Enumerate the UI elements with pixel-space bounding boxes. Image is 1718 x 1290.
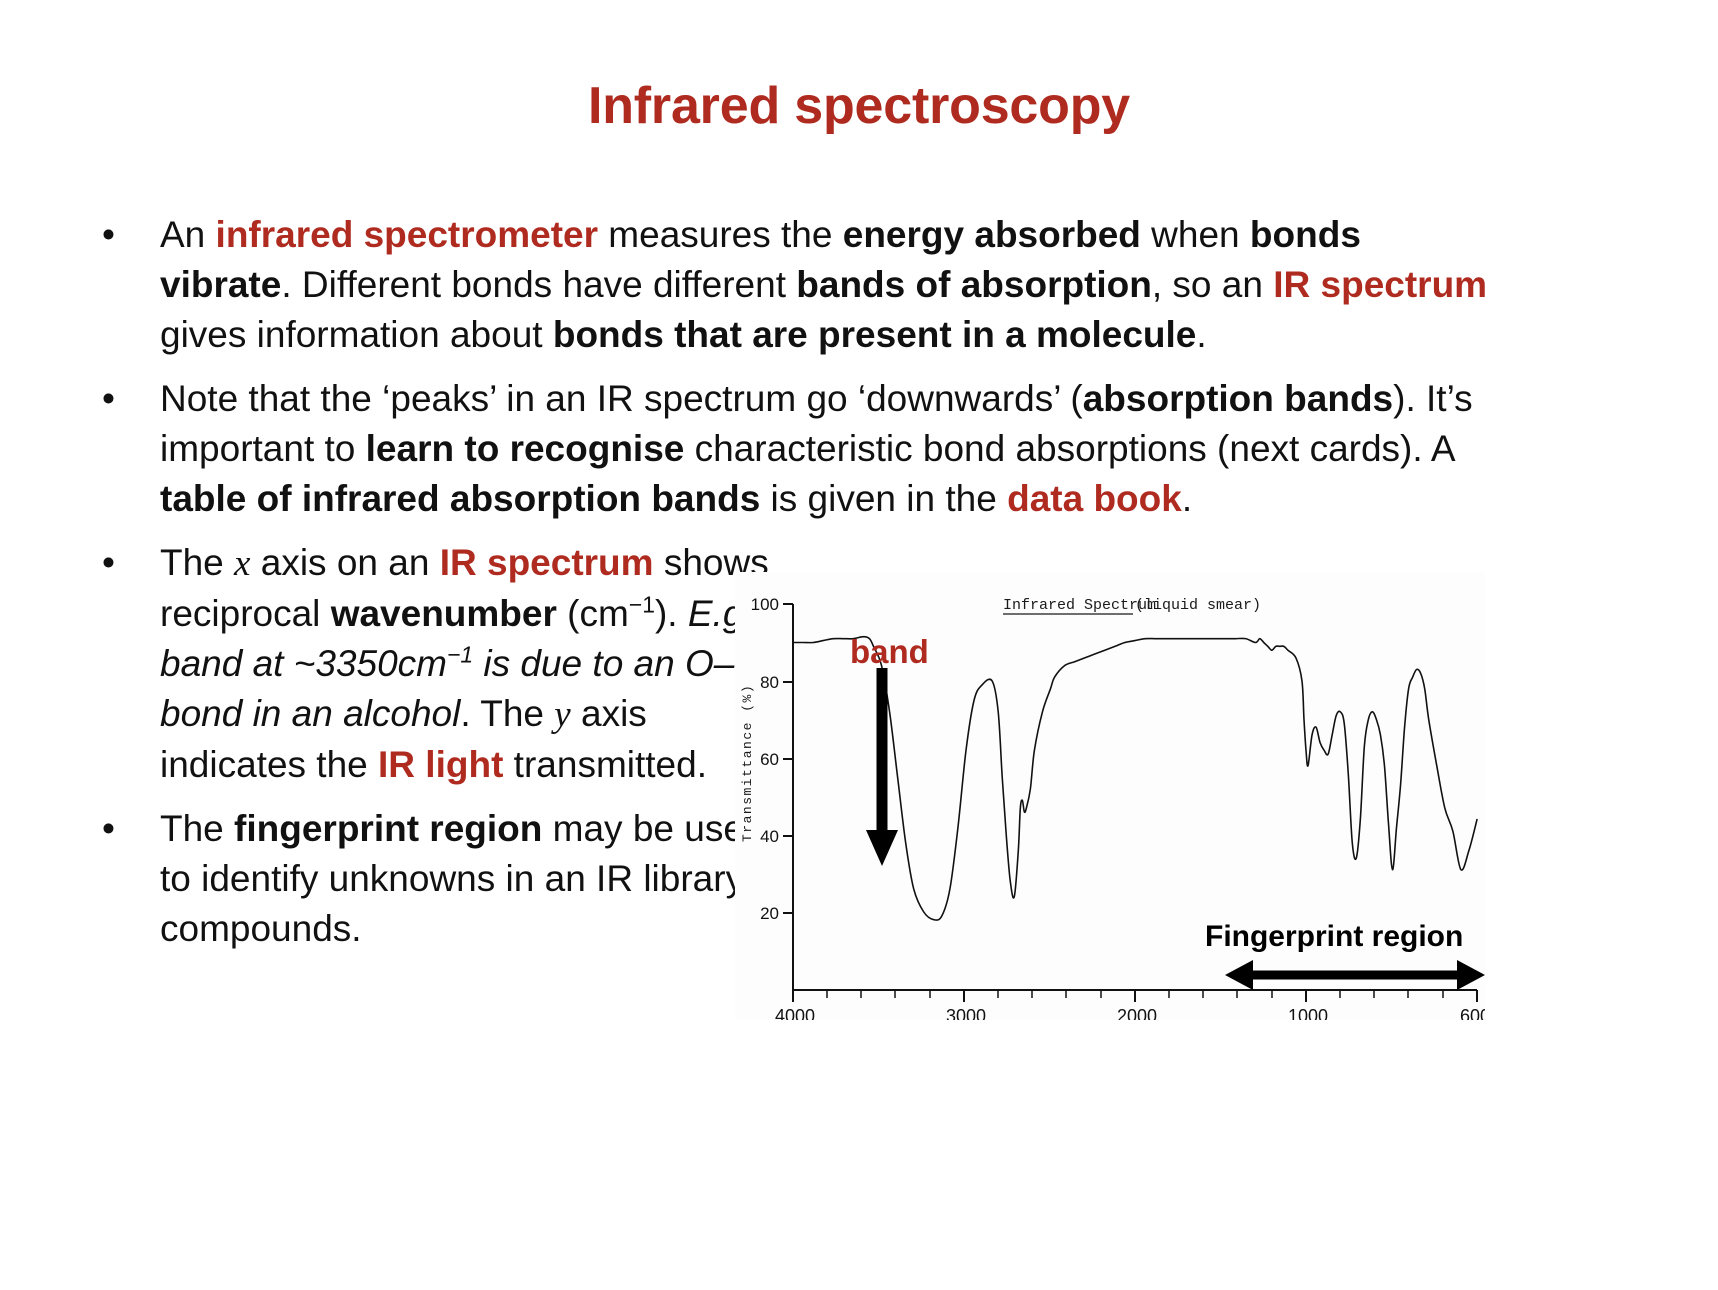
y-tick-label: 20 <box>760 904 779 923</box>
band-annotation-arrow <box>862 668 906 868</box>
x-tick-label: 3000 <box>946 1006 986 1020</box>
x-tick-label: 2000 <box>1117 1006 1157 1020</box>
bullet-marker: • <box>102 210 115 260</box>
y-ticks <box>783 604 793 913</box>
bullet-text-axes: The x axis on an IR spectrum shows recip… <box>160 542 769 785</box>
bullet-marker: • <box>102 374 115 424</box>
bullet-marker: • <box>102 804 115 854</box>
fingerprint-region-arrow <box>1225 955 1485 995</box>
y-axis-title: Transmittance (%) <box>740 684 755 842</box>
x-tick-label: 600 <box>1460 1006 1485 1020</box>
bullet-text-peaks: Note that the ‘peaks’ in an IR spectrum … <box>160 378 1473 519</box>
y-tick-label: 60 <box>760 750 779 769</box>
y-tick-label: 100 <box>751 595 779 614</box>
list-item: • Note that the ‘peaks’ in an IR spectru… <box>88 374 1500 524</box>
x-tick-labels: 4000 3000 2000 1000 600 <box>775 1006 1485 1020</box>
list-item: • The fingerprint region may be used to … <box>88 804 800 954</box>
chart-title-plain: (liquid smear) <box>1135 597 1261 614</box>
x-tick-label: 1000 <box>1288 1006 1328 1020</box>
band-annotation-label: band <box>850 633 929 671</box>
y-tick-label: 80 <box>760 673 779 692</box>
list-item: • The x axis on an IR spectrum shows rec… <box>88 538 800 790</box>
page-title: Infrared spectroscopy <box>0 76 1718 136</box>
double-headed-arrow-icon <box>1225 955 1485 995</box>
fingerprint-region-label: Fingerprint region <box>1205 920 1463 954</box>
y-tick-label: 40 <box>760 827 779 846</box>
down-arrow-icon <box>862 668 906 868</box>
bullet-text-spectrometer: An infrared spectrometer measures the en… <box>160 214 1487 355</box>
list-item: • An infrared spectrometer measures the … <box>88 210 1500 360</box>
chart-title-underlined: Infrared Spectrum <box>1003 597 1156 614</box>
x-tick-label: 4000 <box>775 1006 815 1020</box>
bullet-marker: • <box>102 538 115 588</box>
bullet-text-fingerprint: The fingerprint region may be used to id… <box>160 808 785 949</box>
